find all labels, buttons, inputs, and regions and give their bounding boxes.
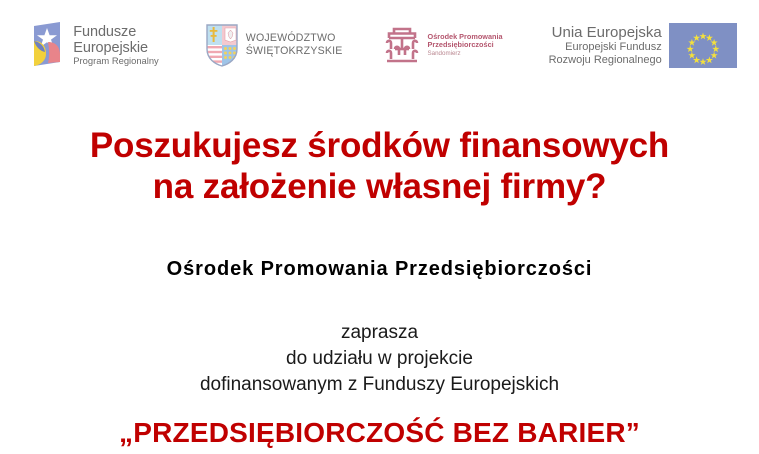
- logo-wojewodztwo-swietokrzyskie: WOJEWÓDZTWO ŚWIĘTOKRZYSKIE: [205, 23, 343, 67]
- unia-europejska-text: Unia Europejska Europejski Fundusz Rozwo…: [549, 24, 662, 67]
- eu-line1: Unia Europejska: [549, 24, 662, 41]
- logo-osrodek-promowania-przedsiebiorczosci: Ośrodek Promowania Przedsiębiorczości Sa…: [383, 25, 503, 65]
- osrodek-text: Ośrodek Promowania Przedsiębiorczości Sa…: [428, 33, 503, 58]
- invite-line-3: dofinansowanym z Funduszy Europejskich: [0, 372, 759, 398]
- wojewodztwo-text: WOJEWÓDZTWO ŚWIĘTOKRZYSKIE: [246, 32, 343, 57]
- invite-line-1: zaprasza: [0, 320, 759, 346]
- project-title: „PRZEDSIĘBIORCZOŚĆ BEZ BARIER”: [0, 417, 759, 449]
- organization-name: Ośrodek Promowania Przedsiębiorczości: [0, 258, 759, 281]
- eu-line2: Europejski Fundusz: [549, 41, 662, 54]
- opp-line3: Sandomierz: [428, 50, 503, 57]
- fe-line1: Fundusze: [73, 24, 158, 40]
- logo-unia-europejska: Unia Europejska Europejski Fundusz Rozwo…: [549, 23, 737, 68]
- osrodek-promowania-przedsiebiorczosci-mark: [383, 25, 421, 65]
- poster-content: Poszukujesz środków finansowych na założ…: [0, 90, 759, 449]
- eu-line3: Rozwoju Regionalnego: [549, 54, 662, 67]
- headline-line-2: na założenie własnej firmy?: [0, 167, 759, 208]
- fe-line2: Europejskie: [73, 40, 158, 56]
- european-union-flag: [669, 23, 737, 68]
- invitation-text: zaprasza do udziału w projekcie dofinans…: [0, 320, 759, 397]
- swietokrzyskie-coat-of-arms: [205, 23, 239, 67]
- fundusze-europejskie-star-mark: [28, 22, 66, 68]
- woj-line2: ŚWIĘTOKRZYSKIE: [246, 45, 343, 58]
- logo-fundusze-europejskie: Fundusze Europejskie Program Regionalny: [28, 22, 158, 68]
- fe-line3: Program Regionalny: [73, 56, 158, 67]
- logo-bar: Fundusze Europejskie Program Regionalny: [0, 0, 759, 90]
- headline-line-1: Poszukujesz środków finansowych: [0, 126, 759, 167]
- opp-line2: Przedsiębiorczości: [428, 41, 503, 50]
- fundusze-europejskie-text: Fundusze Europejskie Program Regionalny: [73, 24, 158, 67]
- woj-line1: WOJEWÓDZTWO: [246, 32, 343, 45]
- invite-line-2: do udziału w projekcie: [0, 346, 759, 372]
- page-title: Poszukujesz środków finansowych na założ…: [0, 126, 759, 208]
